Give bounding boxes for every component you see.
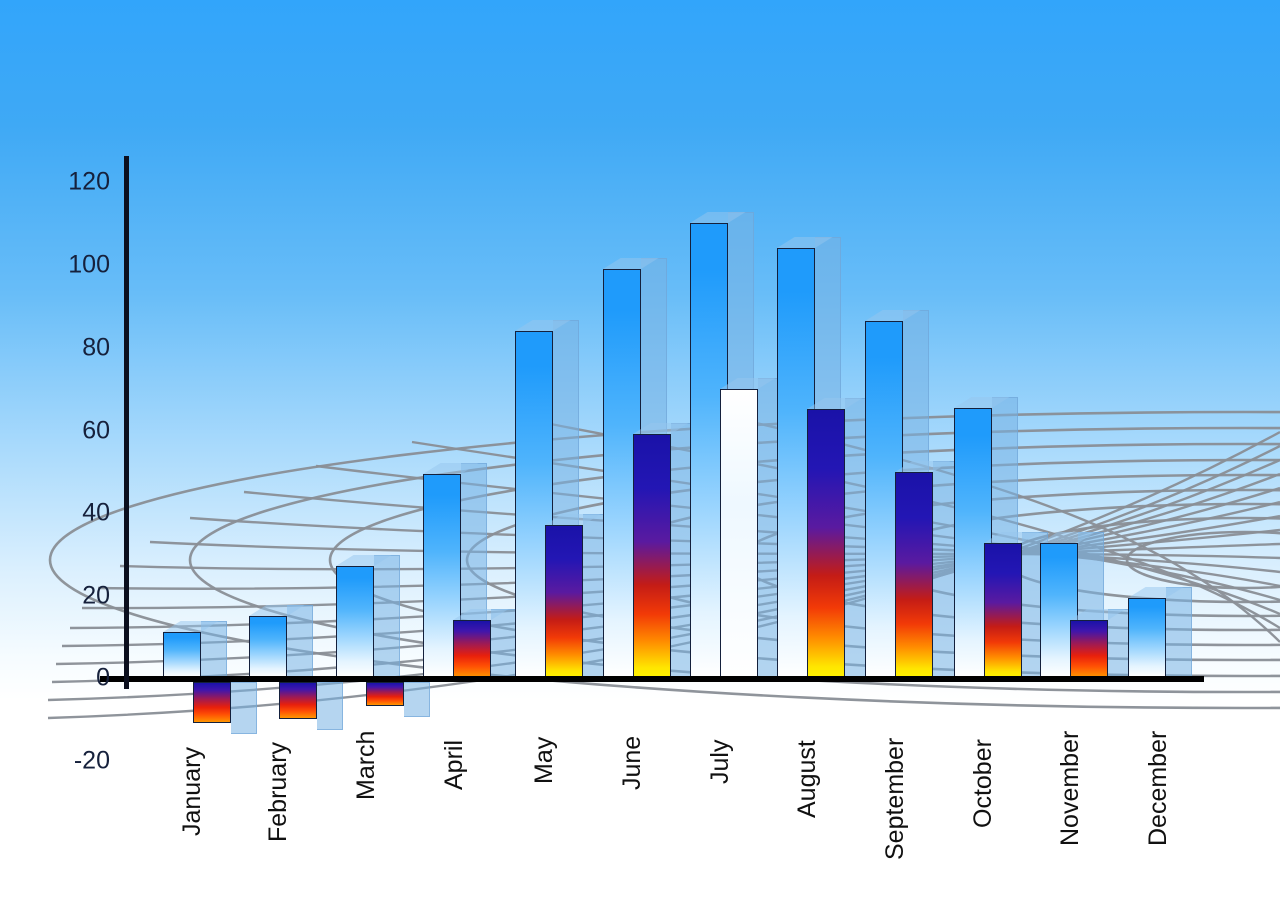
x-label-may: May xyxy=(530,737,559,784)
x-label-july: July xyxy=(706,740,735,784)
x-label-august: August xyxy=(793,740,822,818)
chart-canvas: 120 100 80 60 40 20 0 -20 xyxy=(0,0,1280,905)
x-label-june: June xyxy=(618,736,647,790)
x-label-october: October xyxy=(969,739,998,828)
plot-area: 120 100 80 60 40 20 0 -20 xyxy=(0,0,1280,905)
x-label-april: April xyxy=(440,740,469,790)
x-label-september: September xyxy=(881,738,910,860)
x-label-march: March xyxy=(352,731,381,800)
x-label-february: February xyxy=(264,742,293,842)
x-axis-labels: January February March April May June Ju… xyxy=(0,0,1280,905)
x-label-january: January xyxy=(178,747,207,836)
x-label-december: December xyxy=(1144,731,1173,846)
x-label-november: November xyxy=(1056,731,1085,846)
